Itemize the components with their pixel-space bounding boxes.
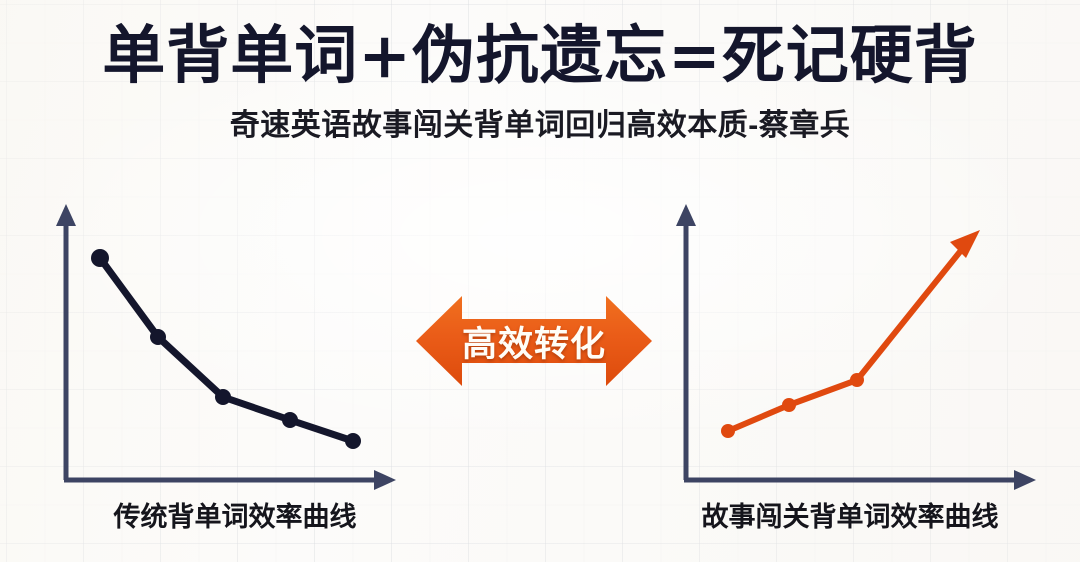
x-axis [684,470,1036,490]
efficiency-conversion-arrow: 高效转化 [414,292,654,390]
page-title: 单背单词+伪抗遗忘=死记硬背 [0,16,1080,94]
series-points-traditional [91,249,361,449]
chart-story-quest-caption: 故事闯关背单词效率曲线 [670,500,1030,534]
y-axis [676,204,696,480]
double-headed-arrow-icon [414,292,654,390]
chart-story-quest-svg [660,196,1020,496]
x-axis [64,470,396,490]
slide-canvas: 单背单词+伪抗遗忘=死记硬背 奇速英语故事闯关背单词回归高效本质-蔡章兵 [0,0,1080,562]
series-line-traditional [100,258,353,441]
y-axis [56,204,76,480]
chart-traditional-caption: 传统背单词效率曲线 [55,500,415,534]
chart-story-quest [660,196,1020,496]
chart-traditional [40,196,400,496]
page-subtitle: 奇速英语故事闯关背单词回归高效本质-蔡章兵 [0,105,1080,147]
series-line-story [728,243,967,431]
chart-traditional-svg [40,196,400,496]
